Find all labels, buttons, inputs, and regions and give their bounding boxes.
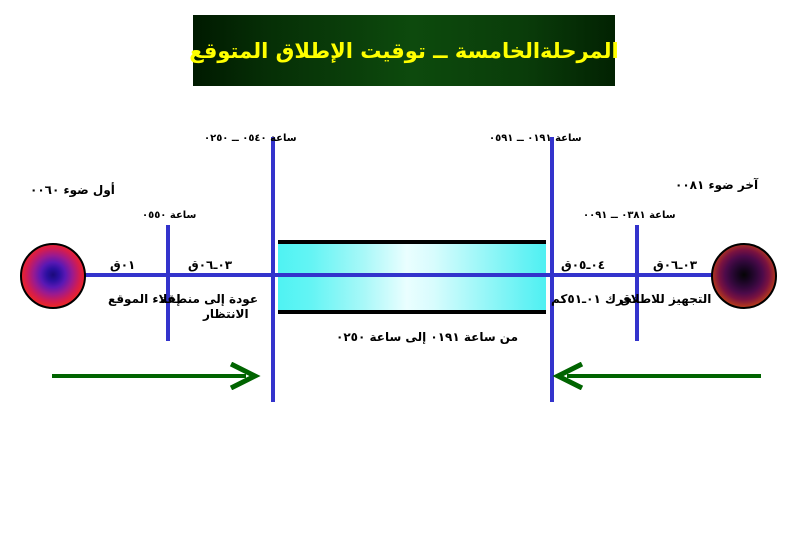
label-0550: ساعة ٠٥٥٠ bbox=[142, 210, 196, 221]
label-40-50-min-right: ٤٠ـ٥٠ق bbox=[561, 258, 605, 272]
label-1830-1900: ساعة ١٨٣٠ ــ ١٩٠٠ bbox=[583, 210, 676, 221]
label-return-waiting-area-line2: الانتظار bbox=[203, 307, 249, 321]
label-prepare-launch: التجهيز للاطلاق bbox=[620, 292, 711, 306]
arrow-left-icon bbox=[548, 362, 763, 390]
night-period-band bbox=[278, 240, 546, 314]
page-title: المرحلةالخامسة ــ توقيت الإطلاق المتوقع bbox=[189, 39, 618, 63]
sun-left-icon bbox=[20, 243, 86, 309]
label-last-light: آخر ضوء ١٨٠٠ bbox=[675, 178, 758, 192]
timeline-axis bbox=[50, 273, 746, 277]
label-range-1910-0520: من ساعة ١٩١٠ إلى ساعة ٠٥٢٠ bbox=[336, 330, 518, 344]
label-clear-site: إخلاء الموقع bbox=[108, 292, 180, 306]
label-1910-1950: ساعة ١٩١٠ ــ ١٩٥٠ bbox=[489, 133, 582, 144]
vertical-line-0550 bbox=[166, 225, 170, 341]
slide-canvas: المرحلةالخامسة ــ توقيت الإطلاق المتوقع … bbox=[0, 0, 799, 559]
title-banner: المرحلةالخامسة ــ توقيت الإطلاق المتوقع bbox=[193, 15, 615, 86]
vertical-line-0450-0520 bbox=[271, 137, 275, 402]
arrow-right-icon bbox=[50, 362, 265, 390]
label-30-60-min-left: ٣٠ـ٦٠ق bbox=[188, 258, 232, 272]
sun-right-icon bbox=[711, 243, 777, 309]
label-0450-0520: ساعة ٠٤٥٠ ــ ٠٥٢٠ bbox=[204, 133, 297, 144]
label-first-light: أول ضوء ٠٦٠٠ bbox=[30, 183, 115, 197]
label-30-60-min-right: ٣٠ـ٦٠ق bbox=[653, 258, 697, 272]
vertical-line-1830-1900 bbox=[635, 225, 639, 341]
label-10-min-left: ١٠ق bbox=[110, 258, 135, 272]
